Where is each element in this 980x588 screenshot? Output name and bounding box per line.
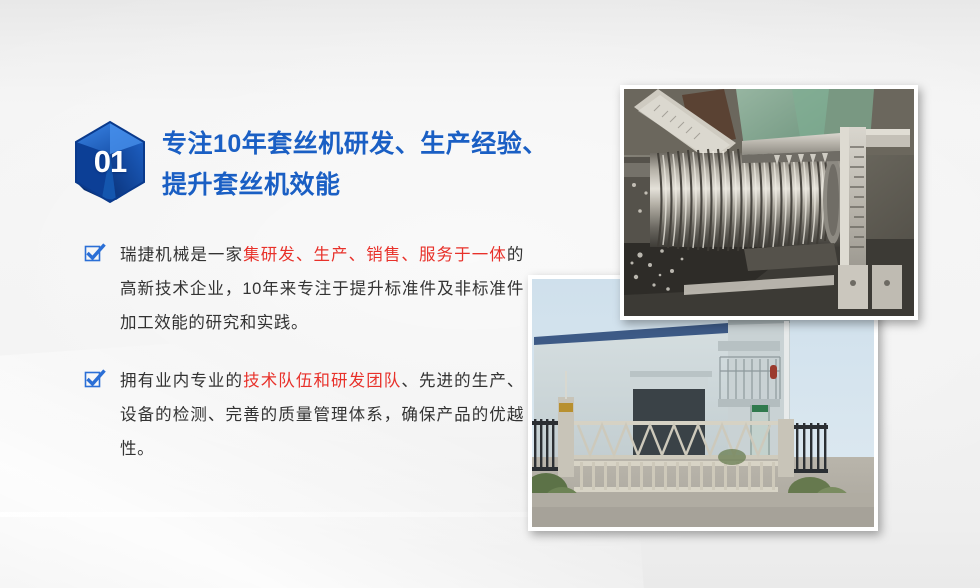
bullet-1-seg-1: 瑞捷机械是一家 xyxy=(120,246,243,264)
checkbox-check-icon xyxy=(84,368,106,390)
bullet-2-seg-1: 拥有业内专业的 xyxy=(120,372,243,390)
headline-line-1: 专注10年套丝机研发、生产经验、 xyxy=(162,124,548,165)
list-item-text: 瑞捷机械是一家集研发、生产、销售、服务于一体的高新技术企业，10年来专注于提升标… xyxy=(120,238,524,340)
feature-list: 瑞捷机械是一家集研发、生产、销售、服务于一体的高新技术企业，10年来专注于提升标… xyxy=(84,238,524,466)
list-item-text: 拥有业内专业的技术队伍和研发团队、先进的生产、设备的检测、完善的质量管理体系，确… xyxy=(120,364,524,466)
list-item: 瑞捷机械是一家集研发、生产、销售、服务于一体的高新技术企业，10年来专注于提升标… xyxy=(84,238,524,340)
promo-banner: 01 专注10年套丝机研发、生产经验、 提升套丝机效能 瑞捷机械是一家集研发、生… xyxy=(0,0,980,588)
bullet-1-seg-2-emphasis: 集研发、生产、销售、服务于一体 xyxy=(243,246,507,264)
list-item: 拥有业内专业的技术队伍和研发团队、先进的生产、设备的检测、完善的质量管理体系，确… xyxy=(84,364,524,466)
headline-line-2: 提升套丝机效能 xyxy=(162,165,548,206)
page-title: 专注10年套丝机研发、生产经验、 提升套丝机效能 xyxy=(162,118,548,206)
headline-row: 01 专注10年套丝机研发、生产经验、 提升套丝机效能 xyxy=(72,118,542,206)
threaded-rod-caliper-photo xyxy=(620,85,918,320)
text-column: 01 专注10年套丝机研发、生产经验、 提升套丝机效能 瑞捷机械是一家集研发、生… xyxy=(0,0,560,588)
checkbox-check-icon xyxy=(84,242,106,264)
hexagon-gem-icon: 01 xyxy=(72,120,148,204)
bullet-2-seg-2-emphasis: 技术队伍和研发团队 xyxy=(243,372,401,390)
